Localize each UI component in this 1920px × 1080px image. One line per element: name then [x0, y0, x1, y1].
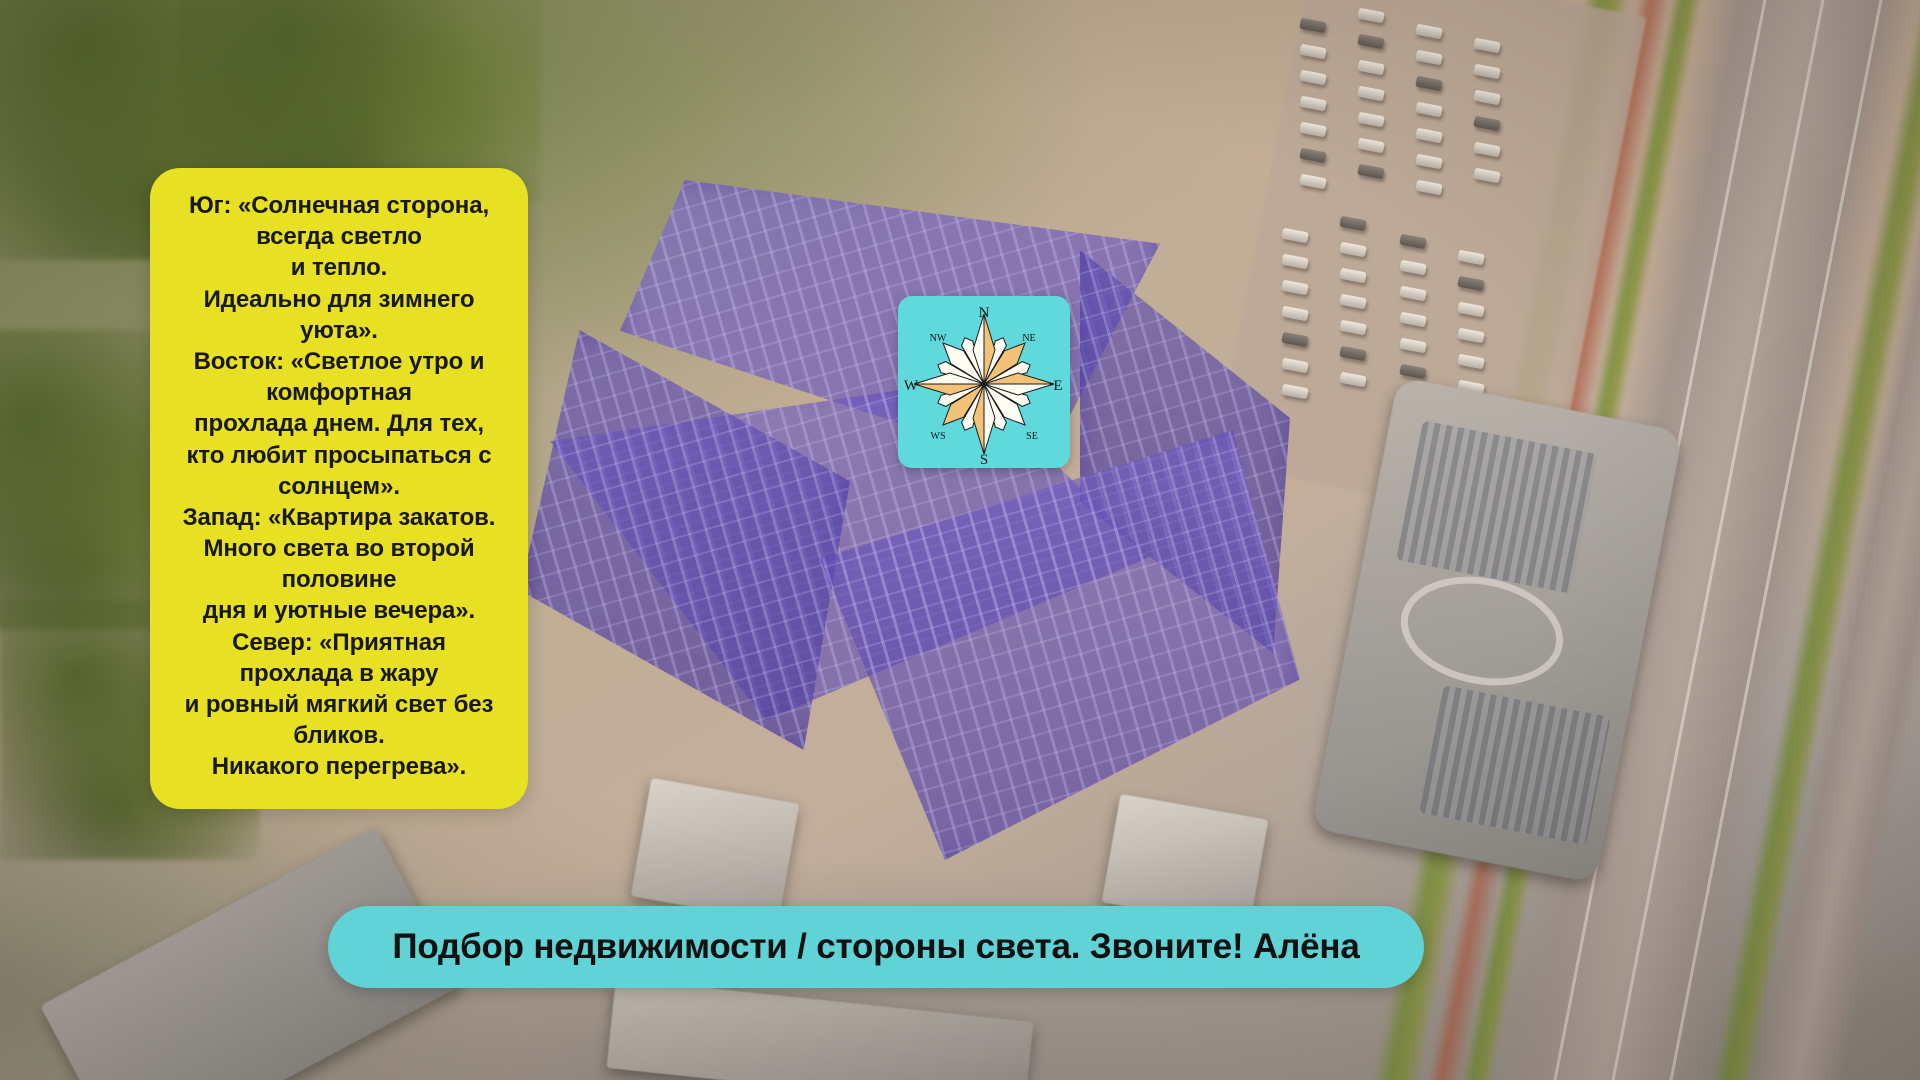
card-line: Много света во второй	[166, 533, 512, 564]
card-line: уюта».	[166, 315, 512, 346]
card-line: Запад: «Квартира закатов.	[166, 502, 512, 533]
compass-label-s: S	[980, 452, 988, 468]
card-line: комфортная	[166, 377, 512, 408]
contact-banner-text: Подбор недвижимости / стороны света. Зво…	[392, 927, 1359, 967]
card-line: Юг: «Солнечная сторона,	[166, 190, 512, 221]
card-line: и тепло.	[166, 252, 512, 283]
card-line: всегда светло	[166, 221, 512, 252]
card-line: Север: «Приятная	[166, 627, 512, 658]
compass-rose-icon: N NE E SE S WS W NW	[898, 296, 1070, 468]
card-line: половине	[166, 564, 512, 595]
compass-label-n: N	[979, 305, 990, 321]
compass-label-ws: WS	[931, 431, 946, 442]
highlighted-building	[520, 180, 1240, 880]
card-line: прохлада днем. Для тех,	[166, 408, 512, 439]
card-line: прохлада в жару	[166, 658, 512, 689]
promo-image: Юг: «Солнечная сторона, всегда светло и …	[0, 0, 1920, 1080]
orientation-advice-card: Юг: «Солнечная сторона, всегда светло и …	[150, 168, 528, 809]
card-line: Никакого перегрева».	[166, 751, 512, 782]
compass-label-se: SE	[1026, 431, 1038, 442]
card-line: дня и уютные вечера».	[166, 595, 512, 626]
contact-banner[interactable]: Подбор недвижимости / стороны света. Зво…	[328, 906, 1424, 988]
card-line: Восток: «Светлое утро и	[166, 346, 512, 377]
compass-label-e: E	[1053, 378, 1062, 394]
compass-label-w: W	[904, 378, 919, 394]
building-facade-left	[520, 330, 850, 750]
card-line: Идеально для зимнего	[166, 284, 512, 315]
compass-rose: N NE E SE S WS W NW	[898, 296, 1070, 468]
card-line: солнцем».	[166, 471, 512, 502]
compass-label-ne: NE	[1022, 333, 1035, 344]
card-line: и ровный мягкий свет без	[166, 689, 512, 720]
card-line: бликов.	[166, 720, 512, 751]
window-grid	[520, 330, 850, 750]
compass-label-nw: NW	[930, 333, 947, 344]
card-line: кто любит просыпаться с	[166, 440, 512, 471]
